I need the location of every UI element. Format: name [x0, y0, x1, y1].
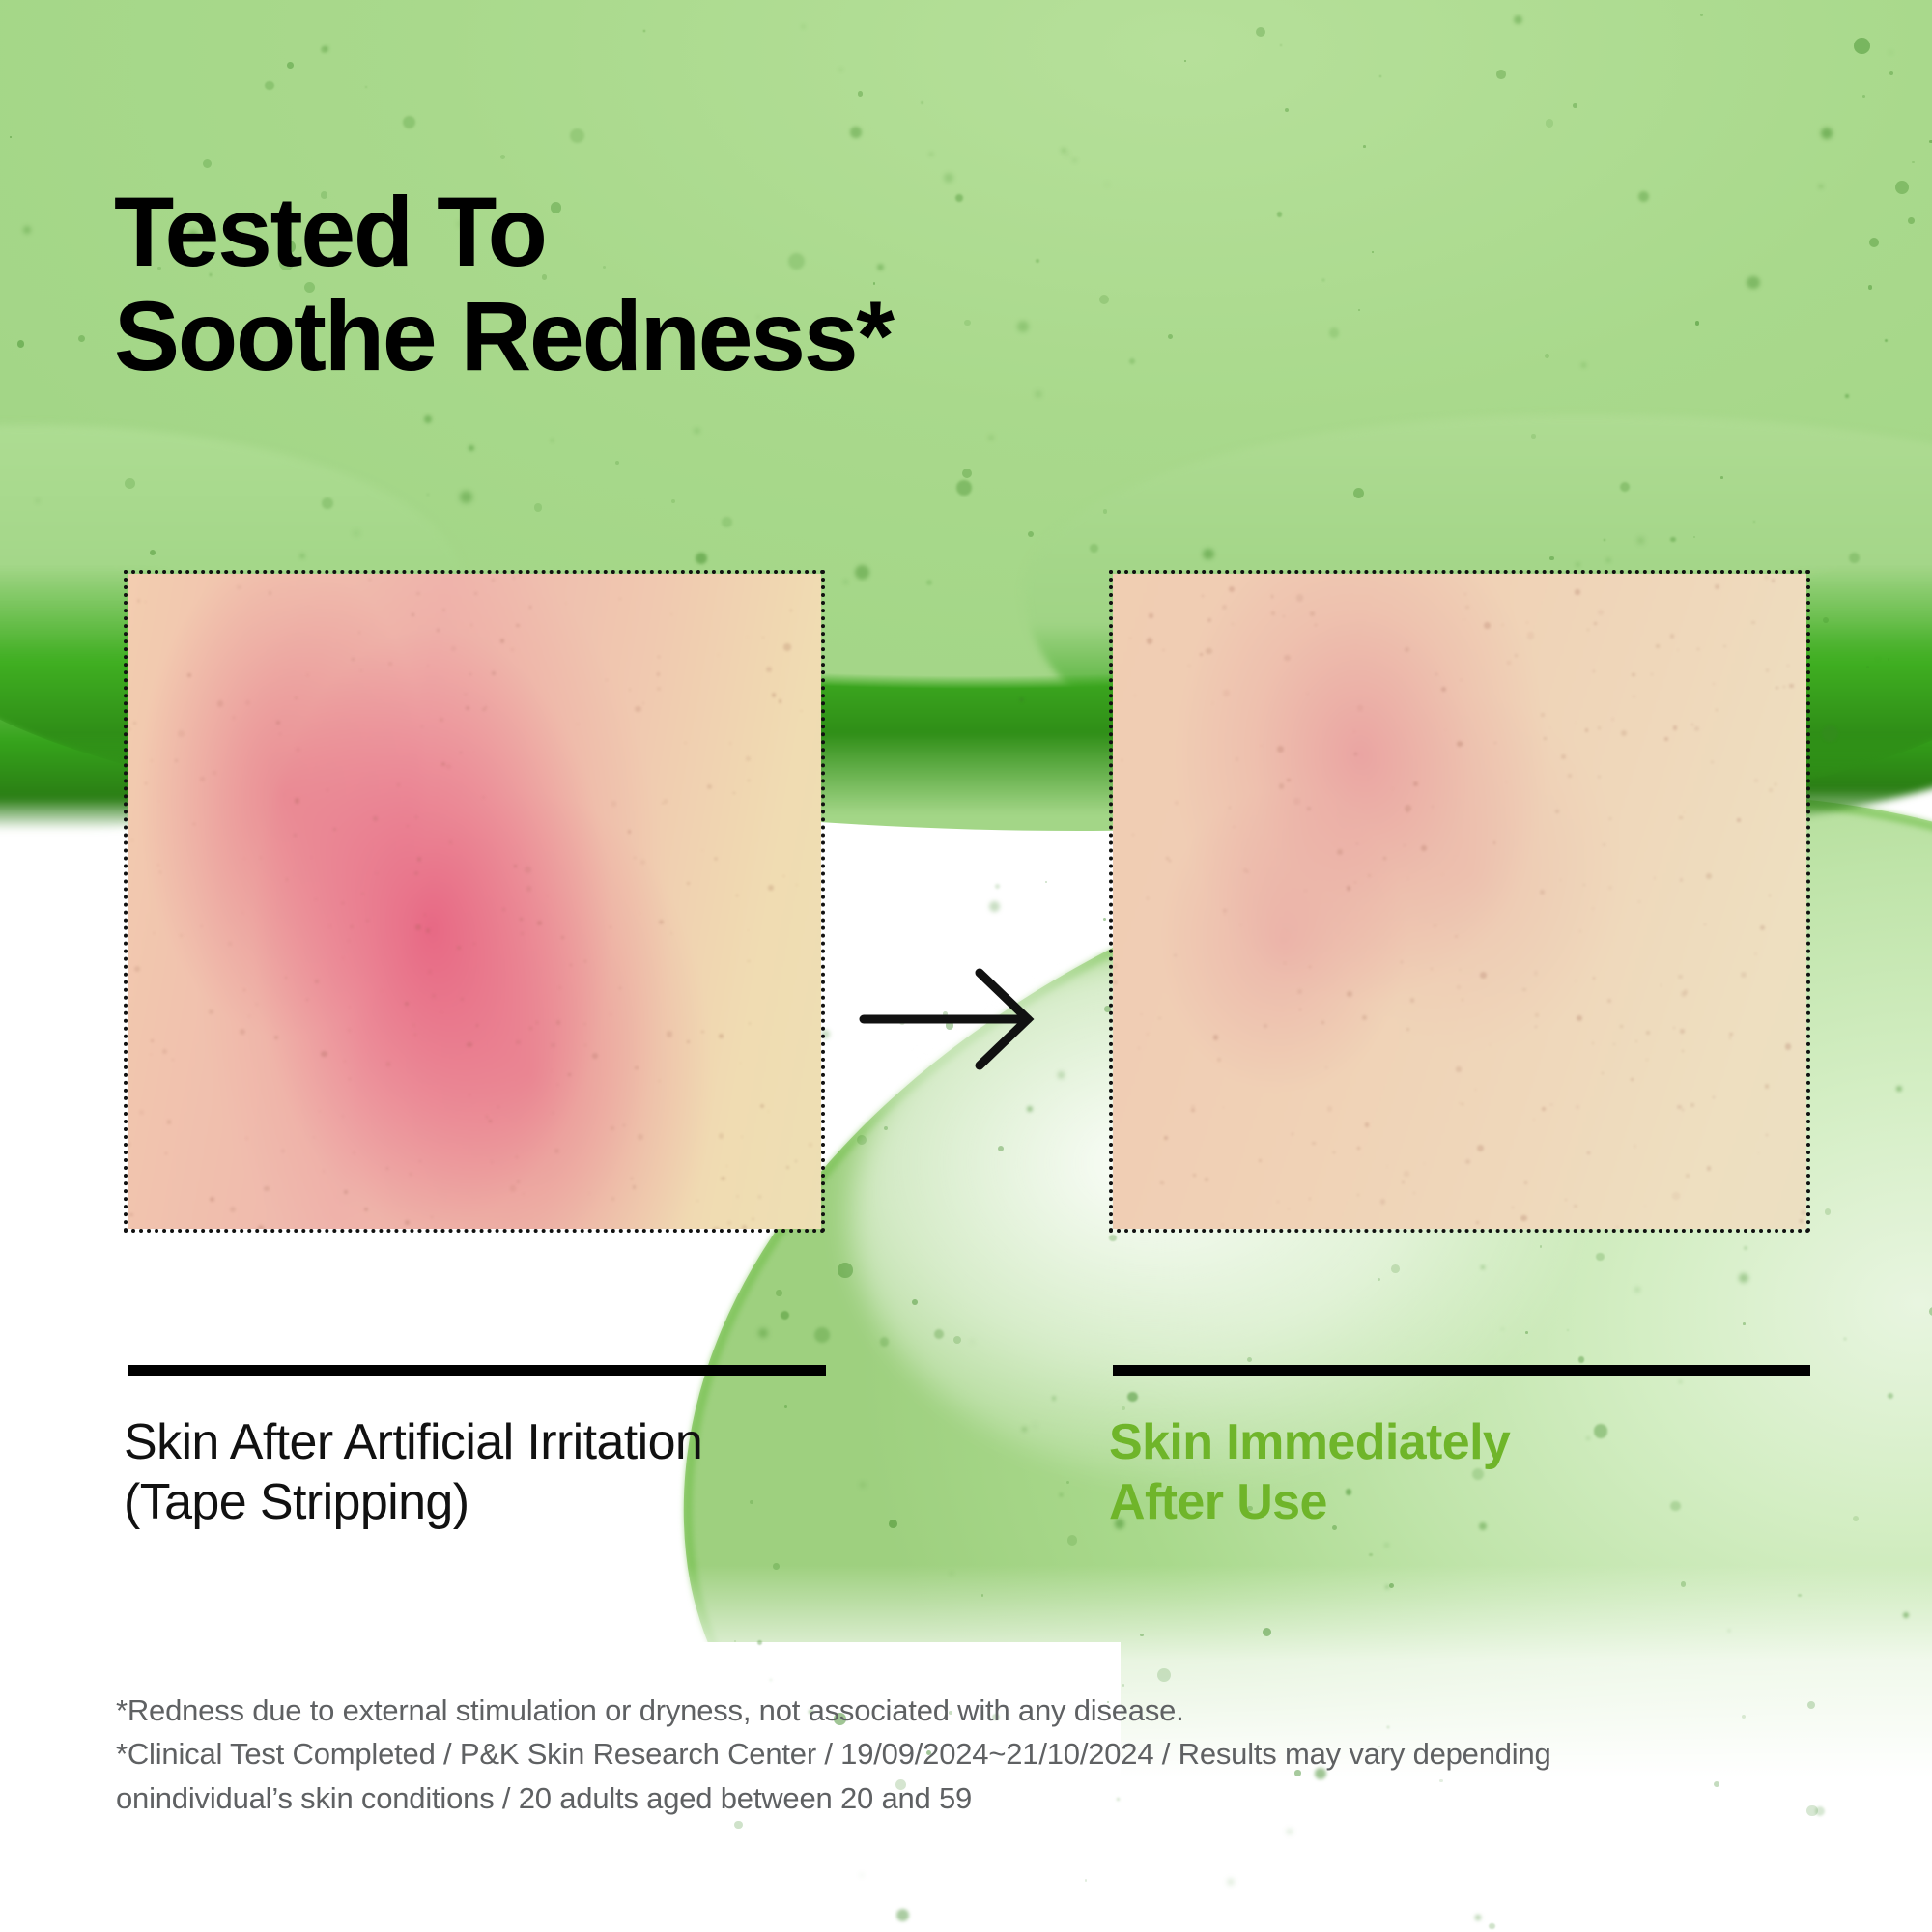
- arrow-right-icon: [856, 956, 1049, 1082]
- footnote-line-1: *Redness due to external stimulation or …: [116, 1689, 1855, 1732]
- before-skin-texture: [124, 570, 825, 1233]
- after-skin-photo: [1109, 570, 1810, 1233]
- headline-line-2: Soothe Redness*: [114, 284, 1370, 388]
- before-skin-photo: [124, 570, 825, 1233]
- after-caption: Skin Immediately After Use: [1109, 1412, 1785, 1533]
- footnote-disclaimer: *Redness due to external stimulation or …: [116, 1689, 1855, 1820]
- after-skin-texture: [1109, 570, 1810, 1233]
- page-title: Tested To Soothe Redness*: [114, 180, 1370, 388]
- after-caption-line-2: After Use: [1109, 1472, 1785, 1532]
- before-caption-rule: [128, 1365, 826, 1376]
- footnote-line-3: onindividual’s skin conditions / 20 adul…: [116, 1776, 1855, 1820]
- after-caption-rule: [1113, 1365, 1810, 1376]
- before-caption-line-2: (Tape Stripping): [124, 1472, 916, 1532]
- before-caption-line-1: Skin After Artificial Irritation: [124, 1414, 702, 1470]
- headline-line-1: Tested To: [114, 177, 546, 287]
- before-caption: Skin After Artificial Irritation (Tape S…: [124, 1412, 916, 1533]
- after-caption-line-1: Skin Immediately: [1109, 1414, 1510, 1470]
- footnote-line-2: *Clinical Test Completed / P&K Skin Rese…: [116, 1732, 1855, 1776]
- marketing-banner: Tested To Soothe Redness* Skin After Art…: [0, 0, 1932, 1932]
